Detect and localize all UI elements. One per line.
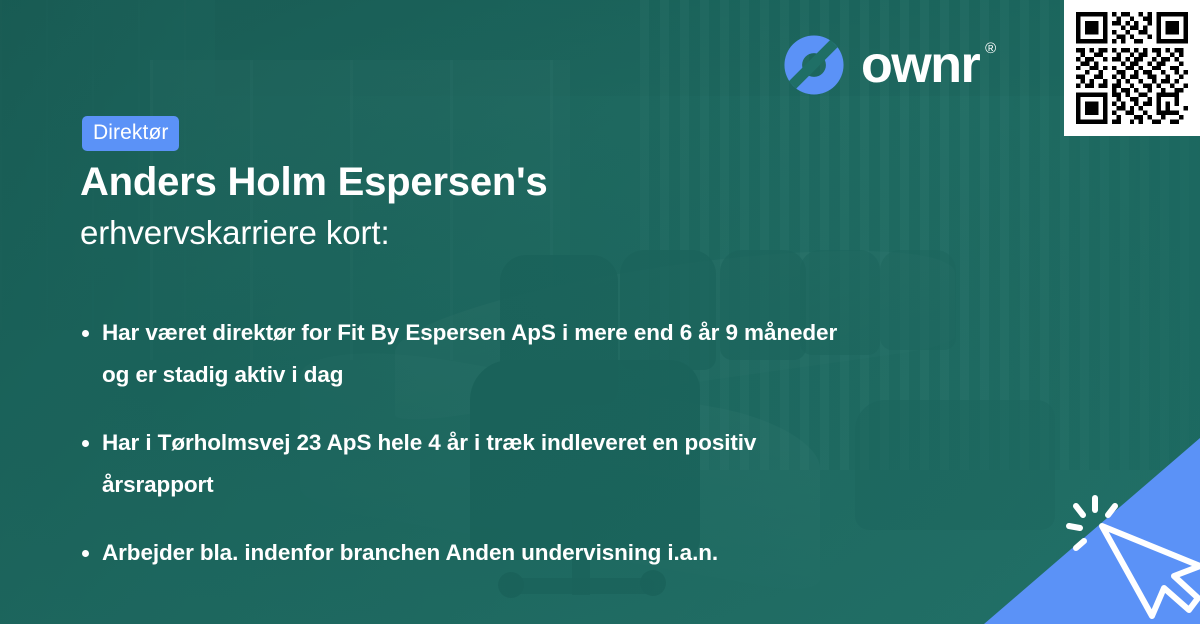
ownr-circle-mark-icon [783,34,845,96]
list-item: Har i Tørholmsvej 23 ApS hele 4 år i træ… [80,422,840,506]
corner-triangle [984,438,1200,624]
card-content: Direktør Anders Holm Espersen's erhvervs… [0,0,1200,624]
bullet-dot-icon [82,330,89,337]
list-item: Har været direktør for Fit By Espersen A… [80,312,840,396]
qr-code-icon [1076,12,1188,124]
page-subtitle: erhvervskarriere kort: [80,214,390,252]
list-item-label: Har været direktør for Fit By Espersen A… [102,320,837,387]
bullet-dot-icon [82,440,89,447]
bullet-dot-icon [82,550,89,557]
brand-wordmark: ownr ® [861,39,979,91]
promo-card: Direktør Anders Holm Espersen's erhvervs… [0,0,1200,624]
page-title: Anders Holm Espersen's [80,160,548,205]
brand-logo: ownr ® [783,34,979,96]
registered-mark: ® [985,41,996,56]
brand-name: ownr [861,36,979,94]
list-item: Arbejder bla. indenfor branchen Anden un… [80,532,840,574]
list-item-label: Har i Tørholmsvej 23 ApS hele 4 år i træ… [102,430,756,497]
corner-accent [984,438,1200,624]
career-highlights-list: Har været direktør for Fit By Espersen A… [80,312,840,574]
list-item-label: Arbejder bla. indenfor branchen Anden un… [102,540,718,565]
qr-code[interactable] [1064,0,1200,136]
role-badge: Direktør [82,116,179,151]
